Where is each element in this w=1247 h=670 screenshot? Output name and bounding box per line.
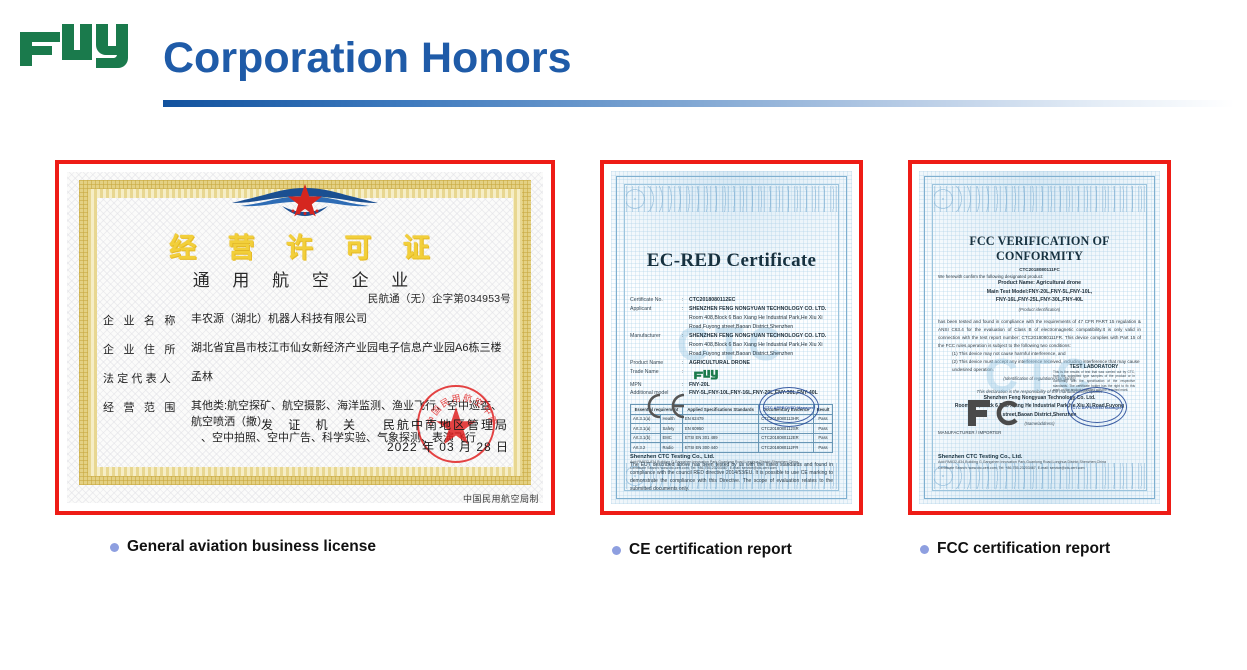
- caption-label: General aviation business license: [127, 538, 376, 556]
- certificate-3-condition-1: (1) This device may not cause harmful in…: [952, 350, 1141, 358]
- ctc-approval-stamp-icon: CTC APPROVED Manager: [1067, 387, 1127, 427]
- cell-result: Pass: [813, 414, 832, 423]
- field-value: Road,Fuyong street,Baoan District,Shenzh…: [689, 323, 833, 332]
- certificate-3-title: FCC VERIFICATION OF CONFORMITY: [938, 234, 1141, 264]
- certificate-3-model-line-2: FNY-16L,FNY-25L,FNY-30L,FNY-40L: [938, 296, 1141, 305]
- field-colon: :: [682, 368, 689, 381]
- field-label: 法定代表人: [103, 370, 191, 386]
- certificate-1-field-legal-representative: 法定代表人 孟林: [103, 370, 511, 386]
- field-value: CTC2018080112EC: [689, 296, 833, 305]
- fcc-mark-icon: [966, 397, 1024, 427]
- field-colon: :: [682, 381, 689, 390]
- field-mpn: MPN : FNY-20L: [630, 381, 833, 390]
- field-manufacturer-address-1: Room 408,Block 6 Bao Xiang He Industrial…: [630, 341, 833, 350]
- bullet-icon: [110, 543, 119, 552]
- title-underline-gradient: [163, 100, 1235, 107]
- certificate-3-footer: Shenzhen CTC Testing Co., Ltd. Add:RM832…: [938, 454, 1141, 471]
- certificate-1-issue-date: 2022 年 03 月 28 日: [387, 438, 509, 455]
- cell-standard: ETSI EN 300 440: [682, 443, 758, 452]
- cell-requirement: Radio: [660, 443, 682, 452]
- field-colon: [682, 341, 689, 350]
- field-colon: :: [682, 332, 689, 341]
- field-key: Applicant: [630, 305, 682, 314]
- field-key: [630, 350, 682, 359]
- field-applicant-address-2: Road,Fuyong street,Baoan District,Shenzh…: [630, 323, 833, 332]
- field-manufacturer: Manufacturer : SHENZHEN FENG NONGYUAN TE…: [630, 332, 833, 341]
- slide-corporation-honors: Corporation Honors: [0, 0, 1247, 670]
- cell-requirement: EMC: [660, 433, 682, 442]
- field-value: AGRICULTURAL DRONE: [689, 359, 833, 368]
- field-colon: [682, 323, 689, 332]
- field-applicant: Applicant : SHENZHEN FENG NONGYUAN TECHN…: [630, 305, 833, 314]
- field-key: MPN: [630, 381, 682, 390]
- civil-aviation-emblem-icon: [230, 182, 380, 224]
- cell-requirement: Safety: [660, 424, 682, 433]
- issuer-value: 民航中南地区管理局: [383, 418, 509, 432]
- certificate-2-title: EC-RED Certificate: [630, 250, 833, 272]
- field-colon: :: [682, 359, 689, 368]
- certificate-3-inner: FCC VERIFICATION OF CONFORMITY CTC201808…: [914, 166, 1165, 509]
- cell-result: Pass: [813, 424, 832, 433]
- field-certificate-no: Certificate No. : CTC2018080112EC: [630, 296, 833, 305]
- ce-mark-icon: [640, 391, 696, 421]
- field-value: SHENZHEN FENG NONGYUAN TECHNOLOGY CO. LT…: [689, 332, 833, 341]
- caption-fcc-certification-report: FCC certification report: [920, 540, 1110, 558]
- field-value-logo: [689, 368, 833, 381]
- field-key: [630, 341, 682, 350]
- certificate-1-footer: 中国民用航空局制: [463, 492, 539, 505]
- cell-standard: EN 60950: [682, 424, 758, 433]
- field-value: Road,Fuyong street,Baoan District,Shenzh…: [689, 350, 833, 359]
- certificate-3-statement: has been tested and found in compliance …: [938, 318, 1141, 350]
- field-colon: :: [682, 296, 689, 305]
- fny-logo: [18, 20, 130, 70]
- field-key: Product Name: [630, 359, 682, 368]
- certificate-2-inner: CTC EC-RED Certificate Certificate No. :…: [606, 166, 857, 509]
- field-value: Room 408,Block 6 Bao Xiang He Industrial…: [689, 314, 833, 323]
- cell-article: Art.3.1(b): [631, 433, 661, 442]
- certificate-2-fields: Certificate No. : CTC2018080112EC Applic…: [630, 296, 833, 398]
- footer-contact: Certificate Search: www.ctc-cert.com, Te…: [630, 466, 833, 471]
- field-value: SHENZHEN FENG NONGYUAN TECHNOLOGY CO. LT…: [689, 305, 833, 314]
- certificate-1-field-company-name: 企 业 名 称 丰农源（湖北）机器人科技有限公司: [103, 312, 511, 328]
- fny-logo-mini-icon: [691, 369, 721, 380]
- cell-result: Pass: [813, 443, 832, 452]
- ctc-approval-stamp-icon: CTC APPROVED Manager: [759, 387, 819, 427]
- certificate-3-model-line-1: Main Test Model:FNY-20L,FNY-5L,FNY-10L,: [938, 288, 1141, 297]
- certificate-1-inner: 经 营 许 可 证 通 用 航 空 企 业 民航通（无）企字第034953号 企…: [61, 166, 549, 509]
- certificate-1-heading: 经 营 许 可 证: [97, 226, 513, 265]
- bullet-icon: [920, 545, 929, 554]
- field-trade-name: Trade Name :: [630, 368, 833, 381]
- field-key: [630, 323, 682, 332]
- field-colon: [682, 314, 689, 323]
- stamp-inner: CTC APPROVED Manager: [1071, 391, 1123, 423]
- cell-evidence: CTC2018080112ER: [759, 433, 814, 442]
- field-manufacturer-address-2: Road,Fuyong street,Baoan District,Shenzh…: [630, 350, 833, 359]
- field-colon: :: [682, 305, 689, 314]
- field-key: [630, 314, 682, 323]
- caption-ce-certification-report: CE certification report: [612, 541, 792, 559]
- stamp-inner: CTC APPROVED Manager: [763, 391, 815, 423]
- field-label: 企 业 住 所: [103, 341, 191, 357]
- field-product-name: Product Name : AGRICULTURAL DRONE: [630, 359, 833, 368]
- certificate-3-content: FCC VERIFICATION OF CONFORMITY CTC201808…: [938, 206, 1141, 479]
- field-colon: [682, 350, 689, 359]
- certificate-2-footer: Shenzhen CTC Testing Co., Ltd. Add:RM832…: [630, 454, 833, 471]
- certificate-1-field-company-address: 企 业 住 所 湖北省宜昌市枝江市仙女新经济产业园电子信息产业园A6栋三楼: [103, 341, 511, 357]
- certificate-fcc-verification[interactable]: FCC VERIFICATION OF CONFORMITY CTC201808…: [908, 160, 1171, 515]
- certificate-1-number: 民航通（无）企字第034953号: [368, 291, 511, 306]
- field-value: 孟林: [191, 370, 511, 386]
- field-label: 经 营 范 围: [103, 399, 191, 415]
- cell-result: Pass: [813, 433, 832, 442]
- bullet-icon: [612, 546, 621, 555]
- field-key: Trade Name: [630, 368, 682, 381]
- certificate-ce-red[interactable]: CTC EC-RED Certificate Certificate No. :…: [600, 160, 863, 515]
- certificate-3-number: CTC2018080111FC: [938, 267, 1141, 272]
- footer-contact: Certificate Search: www.ctc-cert.com, Te…: [938, 466, 1141, 471]
- cell-article: Art.3.2: [631, 443, 661, 452]
- field-label: 企 业 名 称: [103, 312, 191, 328]
- field-applicant-address-1: Room 408,Block 6 Bao Xiang He Industrial…: [630, 314, 833, 323]
- caption-general-aviation-license: General aviation business license: [110, 538, 376, 556]
- table-row: Art.3.2 Radio ETSI EN 300 440 CTC2018080…: [631, 443, 833, 452]
- field-value: 丰农源（湖北）机器人科技有限公司: [191, 312, 511, 328]
- certificate-1-subheading: 通 用 航 空 企 业: [97, 266, 513, 291]
- certificate-3-product-name: Product Name: Agricultural drone: [938, 279, 1141, 288]
- cell-standard: ETSI EN 301 489: [682, 433, 758, 442]
- certificate-1-content: 经 营 许 可 证 通 用 航 空 企 业 民航通（无）企字第034953号 企…: [97, 186, 513, 475]
- caption-label: FCC certification report: [937, 540, 1110, 558]
- field-value: FNY-20L: [689, 381, 833, 390]
- field-value: 湖北省宜昌市枝江市仙女新经济产业园电子信息产业园A6栋三楼: [191, 341, 511, 357]
- issuer-label: 发 证 机 关: [261, 418, 361, 432]
- certificate-3-product-identification: (Product identification): [938, 307, 1141, 312]
- certificate-1-issuer-line: 发 证 机 关民航中南地区管理局: [261, 416, 509, 433]
- field-key: Certificate No.: [630, 296, 682, 305]
- table-row: Art.3.1(b) EMC ETSI EN 301 489 CTC201808…: [631, 433, 833, 442]
- page-title: Corporation Honors: [163, 34, 571, 83]
- caption-label: CE certification report: [629, 541, 792, 559]
- table-row: Art.3.1(a) Safety EN 60950 CTC2018080112…: [631, 424, 833, 433]
- field-key: Manufacturer: [630, 332, 682, 341]
- cell-evidence: CTC2018080112FR: [759, 443, 814, 452]
- cell-article: Art.3.1(a): [631, 424, 661, 433]
- field-value: Room 408,Block 6 Bao Xiang He Industrial…: [689, 341, 833, 350]
- certificate-3-manufacturer-label: MANUFACTURER / IMPORTER: [938, 430, 1141, 435]
- certificate-general-aviation-license[interactable]: 经 营 许 可 证 通 用 航 空 企 业 民航通（无）企字第034953号 企…: [55, 160, 555, 515]
- certificate-2-content: EC-RED Certificate Certificate No. : CTC…: [630, 206, 833, 479]
